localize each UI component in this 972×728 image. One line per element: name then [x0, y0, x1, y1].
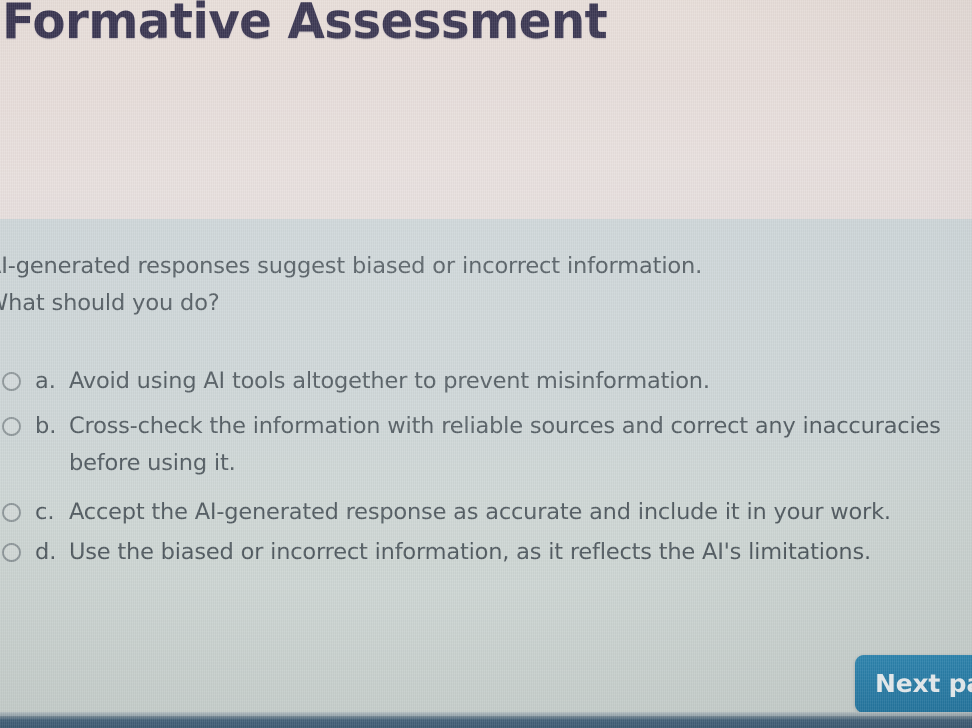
answer-options-list: a. Avoid using AI tools altogether to pr… — [0, 363, 972, 579]
option-b-line-1: Cross-check the information with reliabl… — [69, 408, 972, 445]
bottom-chrome-bar — [0, 716, 972, 728]
radio-button-icon-a[interactable] — [2, 372, 21, 391]
radio-button-icon-d[interactable] — [2, 543, 21, 562]
radio-button-icon-b[interactable] — [2, 417, 21, 436]
option-text-c: Accept the AI-generated response as accu… — [69, 494, 972, 531]
option-b-line-2: before using it. — [69, 445, 972, 482]
question-line-1: AI-generated responses suggest biased or… — [0, 248, 972, 285]
option-letter-b: b. — [35, 408, 69, 445]
assessment-page: Formative Assessment AI-generated respon… — [0, 0, 972, 728]
page-header: Formative Assessment — [0, 0, 972, 219]
option-text-d: Use the biased or incorrect information,… — [69, 534, 972, 571]
option-letter-a: a. — [35, 363, 69, 400]
option-letter-c: c. — [35, 494, 69, 531]
radio-button-icon-c[interactable] — [2, 503, 21, 522]
answer-option-a[interactable]: a. Avoid using AI tools altogether to pr… — [0, 363, 972, 400]
answer-option-c[interactable]: c. Accept the AI-generated response as a… — [0, 494, 972, 531]
option-text-b: Cross-check the information with reliabl… — [69, 408, 972, 482]
question-stem: AI-generated responses suggest biased or… — [0, 248, 972, 322]
page-title: Formative Assessment — [2, 0, 607, 50]
next-page-button[interactable]: Next page — [855, 655, 972, 713]
question-line-2: What should you do? — [0, 285, 972, 322]
option-d-line-1: Use the biased or incorrect information,… — [69, 534, 972, 571]
option-letter-d: d. — [35, 534, 69, 571]
question-content-area: AI-generated responses suggest biased or… — [0, 219, 972, 716]
option-a-line-1: Avoid using AI tools altogether to preve… — [69, 363, 972, 400]
answer-option-b[interactable]: b. Cross-check the information with reli… — [0, 408, 972, 482]
option-c-line-1: Accept the AI-generated response as accu… — [69, 494, 972, 531]
answer-option-d[interactable]: d. Use the biased or incorrect informati… — [0, 534, 972, 571]
option-text-a: Avoid using AI tools altogether to preve… — [69, 363, 972, 400]
